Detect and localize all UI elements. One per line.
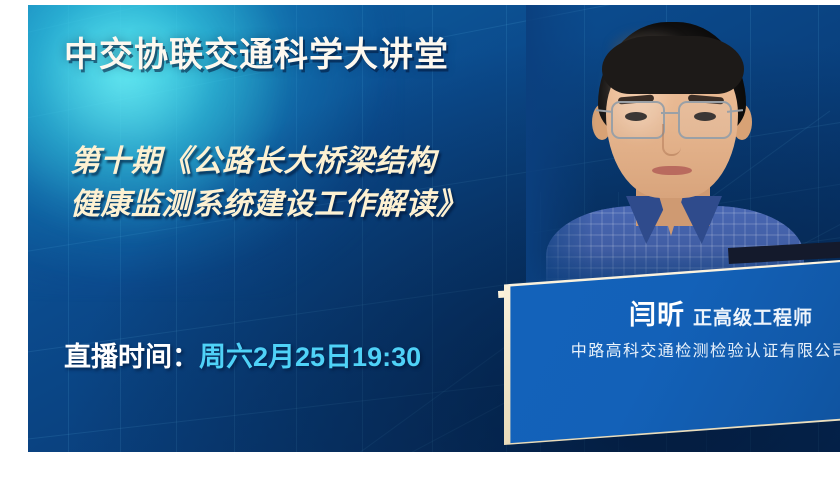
portrait-mouth xyxy=(652,166,692,175)
poster-subtitle: 第十期《公路长大桥梁结构 健康监测系统建设工作解读》 xyxy=(70,141,570,226)
speaker-role: 正高级工程师 xyxy=(693,308,813,329)
speaker-panel-content: 闫昕正高级工程师 中路高科交通检测检验认证有限公司 xyxy=(496,255,840,445)
poster-root: 中交协联交通科学大讲堂 第十期《公路长大桥梁结构 健康监测系统建设工作解读》 直… xyxy=(0,0,840,480)
portrait-glasses-lens-right xyxy=(678,101,732,139)
portrait-fringe xyxy=(602,36,744,94)
portrait-glasses-bridge xyxy=(661,112,678,114)
subtitle-line-2: 健康监测系统建设工作解读》 xyxy=(70,184,570,227)
speaker-panel: 闫昕正高级工程师 中路高科交通检测检验认证有限公司 xyxy=(496,255,840,452)
live-time-row: 直播时间：周六2月25日19:30 xyxy=(64,335,421,374)
live-time-label: 直播时间： xyxy=(64,342,199,372)
page-title: 中交协联交通科学大讲堂 xyxy=(64,27,449,76)
subtitle-line-1: 第十期《公路长大桥梁结构 xyxy=(70,141,570,184)
portrait-nose xyxy=(662,124,681,156)
poster-artwork: 中交协联交通科学大讲堂 第十期《公路长大桥梁结构 健康监测系统建设工作解读》 直… xyxy=(28,5,840,452)
speaker-name: 闫昕 xyxy=(629,300,685,330)
speaker-organization: 中路高科交通检测检验认证有限公司 xyxy=(526,337,840,361)
portrait-glasses-lens-left xyxy=(611,101,665,139)
speaker-name-row: 闫昕正高级工程师 xyxy=(546,293,840,332)
live-time-value: 周六2月25日19:30 xyxy=(199,342,421,372)
